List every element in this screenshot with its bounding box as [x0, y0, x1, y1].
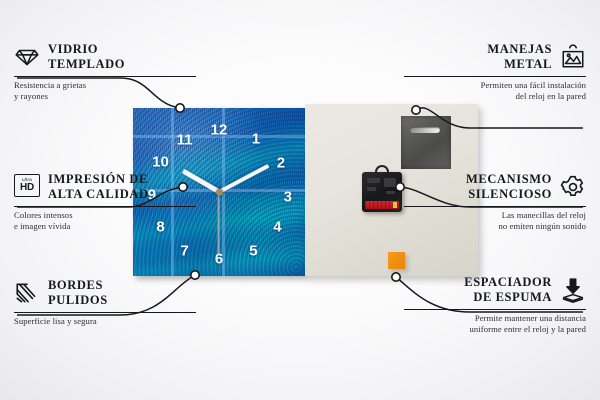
feature-desc-line1: Las manecillas del reloj	[502, 210, 586, 220]
feature-desc-line2: del reloj en la pared	[516, 91, 586, 101]
feature-bordes-pulidos: BORDES PULIDOS Superficie lisa y segura	[14, 278, 196, 327]
clock-center-pin	[216, 189, 223, 196]
feature-description: Superficie lisa y segura	[14, 316, 196, 327]
clock-hour-1: 1	[252, 132, 260, 147]
feature-title: BORDES PULIDOS	[48, 278, 108, 308]
clock-battery	[365, 201, 399, 209]
feature-desc-line2: e imagen vívida	[14, 221, 70, 231]
feature-description: Colores intensos e imagen vívida	[14, 210, 196, 233]
feature-vidrio-templado: VIDRIO TEMPLADO Resistencia a grietas y …	[14, 42, 196, 103]
feature-divider	[404, 76, 586, 77]
feature-title: MANEJAS METAL	[487, 42, 552, 72]
feature-desc-line1: Colores intensos	[14, 210, 73, 220]
feature-divider	[14, 206, 196, 207]
feature-header: ESPACIADOR DE ESPUMA	[404, 275, 586, 305]
clock-hour-5: 5	[249, 243, 257, 258]
feature-title-line1: VIDRIO	[48, 42, 98, 56]
feature-title-line1: IMPRESIÓN DE	[48, 172, 148, 186]
feature-title-line2: METAL	[504, 57, 552, 71]
feature-title-line1: MECANISMO	[466, 172, 552, 186]
clock-hour-2: 2	[277, 156, 285, 171]
mechanism-detail-c	[367, 187, 376, 191]
feature-title-line2: ALTA CALIDAD	[48, 187, 149, 201]
feature-title: ESPACIADOR DE ESPUMA	[464, 275, 552, 305]
hd-badge: ultra HD	[14, 174, 40, 197]
feature-title-line1: MANEJAS	[487, 42, 552, 56]
feature-desc-line1: Resistencia a grietas	[14, 80, 86, 90]
battery-positive-tip	[393, 202, 397, 208]
feature-header: MECANISMO SILENCIOSO	[404, 172, 586, 202]
metal-hanger-plate	[401, 116, 451, 169]
feature-title-line1: BORDES	[48, 278, 103, 292]
feature-divider	[14, 76, 196, 77]
feature-espaciador-espuma: ESPACIADOR DE ESPUMA Permite mantener un…	[404, 275, 586, 336]
feature-header: BORDES PULIDOS	[14, 278, 196, 308]
mechanism-detail-d	[386, 191, 395, 194]
feature-impresion-alta-calidad: ultra HD IMPRESIÓN DE ALTA CALIDAD Color…	[14, 172, 196, 233]
clock-mechanism-box	[362, 172, 402, 212]
feature-manejas-metal: MANEJAS METAL Permiten una fácil instala…	[404, 42, 586, 103]
clock-hour-3: 3	[284, 190, 292, 205]
feature-title-line1: ESPACIADOR	[464, 275, 552, 289]
diamond-icon	[14, 44, 40, 70]
feature-description: Permite mantener una distancia uniforme …	[404, 313, 586, 336]
feature-title-line2: TEMPLADO	[48, 57, 125, 71]
foam-spacer-pad	[388, 252, 405, 269]
foam-spacer-icon	[560, 277, 586, 303]
feature-description: Las manecillas del reloj no emiten ningú…	[404, 210, 586, 233]
feature-desc-line1: Permite mantener una distancia	[475, 313, 586, 323]
clock-hour-4: 4	[273, 220, 281, 235]
feature-title: IMPRESIÓN DE ALTA CALIDAD	[48, 172, 149, 202]
feature-title-line2: SILENCIOSO	[468, 187, 552, 201]
feature-title: VIDRIO TEMPLADO	[48, 42, 125, 72]
ultra-hd-icon: ultra HD	[14, 174, 40, 200]
feature-title-line2: PULIDOS	[48, 293, 108, 307]
mechanism-hanging-loop	[375, 165, 389, 174]
feature-desc-line2: y rayones	[14, 91, 48, 101]
polished-edge-icon	[14, 280, 40, 306]
feature-desc-line2: no emiten ningún sonido	[498, 221, 586, 231]
gear-icon	[560, 174, 586, 200]
feature-divider	[14, 312, 196, 313]
hd-badge-hd: HD	[20, 183, 34, 193]
clock-hour-7: 7	[180, 243, 188, 258]
feature-divider	[404, 309, 586, 310]
feature-desc-line2: uniforme entre el reloj y la pared	[470, 324, 587, 334]
clock-hour-6: 6	[215, 252, 223, 267]
clock-hour-10: 10	[152, 154, 169, 169]
mechanism-detail-a	[367, 178, 380, 183]
feature-header: MANEJAS METAL	[404, 42, 586, 72]
feature-desc-line1: Superficie lisa y segura	[14, 316, 97, 326]
clock-hour-11: 11	[177, 132, 193, 147]
feature-title-line2: DE ESPUMA	[473, 290, 552, 304]
feature-mecanismo-silencioso: MECANISMO SILENCIOSO Las manecillas del …	[404, 172, 586, 233]
feature-title: MECANISMO SILENCIOSO	[466, 172, 552, 202]
feature-description: Permiten una fácil instalación del reloj…	[404, 80, 586, 103]
infographic-stage: 12 1 2 3 4 5 6 7 8 9 10 11	[0, 0, 600, 400]
feature-desc-line1: Permiten una fácil instalación	[481, 80, 586, 90]
feature-description: Resistencia a grietas y rayones	[14, 80, 196, 103]
feature-header: ultra HD IMPRESIÓN DE ALTA CALIDAD	[14, 172, 196, 202]
wall-frame-icon	[560, 44, 586, 70]
feature-divider	[404, 206, 586, 207]
mechanism-detail-b	[384, 178, 396, 187]
clock-second-hand	[218, 192, 220, 254]
clock-hour-12: 12	[211, 122, 228, 137]
hanger-slot	[410, 127, 440, 133]
feature-header: VIDRIO TEMPLADO	[14, 42, 196, 72]
